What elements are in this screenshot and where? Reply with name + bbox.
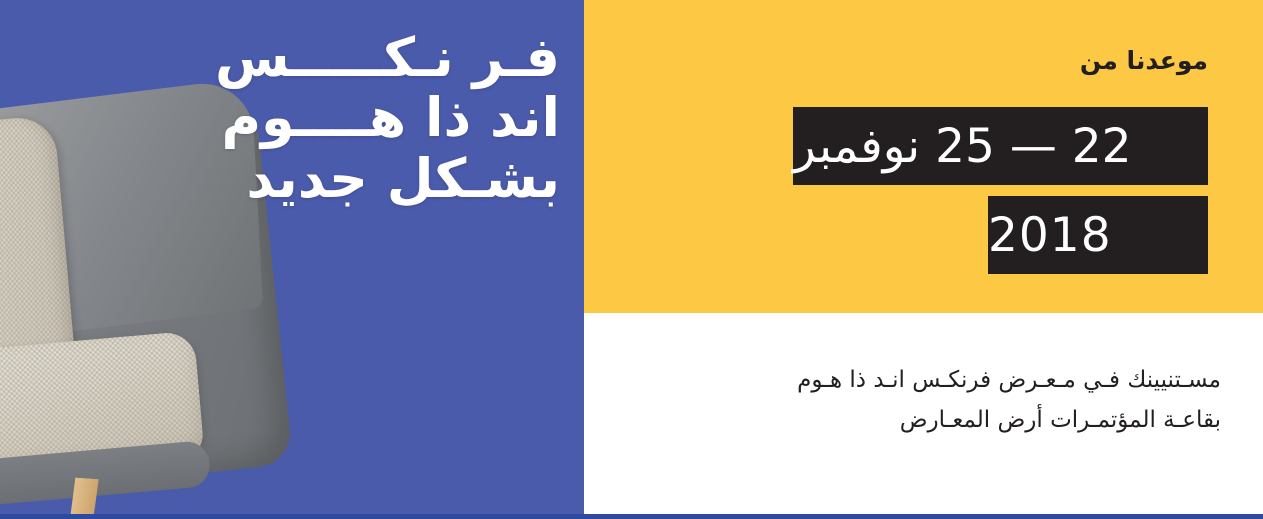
date-kicker-label: موعدنا من — [1080, 46, 1208, 75]
body-copy-line-1: مسـتنيينك فـي مـعـرض فرنكـس انـد ذا هـوم — [621, 361, 1221, 401]
date-year-text: 2018 — [988, 212, 1112, 259]
event-promo-banner: فـر نـكـــــس اند ذا هــــوم بشـكل جديد … — [0, 0, 1263, 519]
date-range-text: 22 — 25 نوفمبر — [793, 123, 1132, 170]
headline-line-1: فـر نـكـــــس — [20, 28, 560, 88]
yellow-date-panel: موعدنا من 22 — 25 نوفمبر 2018 — [584, 0, 1263, 313]
bottom-accent-rule — [0, 514, 1263, 519]
headline: فـر نـكـــــس اند ذا هــــوم بشـكل جديد — [20, 28, 560, 209]
headline-line-2: اند ذا هــــوم — [20, 88, 560, 148]
right-panel: موعدنا من 22 — 25 نوفمبر 2018 مسـتنيينك … — [584, 0, 1263, 515]
headline-line-3: بشـكل جديد — [20, 149, 560, 209]
body-copy-line-2: بقاعـة المؤتمـرات أرض المعـارض — [621, 401, 1221, 441]
date-year-badge: 2018 — [988, 196, 1208, 274]
left-blue-panel: فـر نـكـــــس اند ذا هــــوم بشـكل جديد — [0, 0, 584, 515]
date-range-badge: 22 — 25 نوفمبر — [793, 107, 1208, 185]
body-copy: مسـتنيينك فـي مـعـرض فرنكـس انـد ذا هـوم… — [621, 361, 1221, 440]
white-info-panel: مسـتنيينك فـي مـعـرض فرنكـس انـد ذا هـوم… — [584, 313, 1263, 515]
